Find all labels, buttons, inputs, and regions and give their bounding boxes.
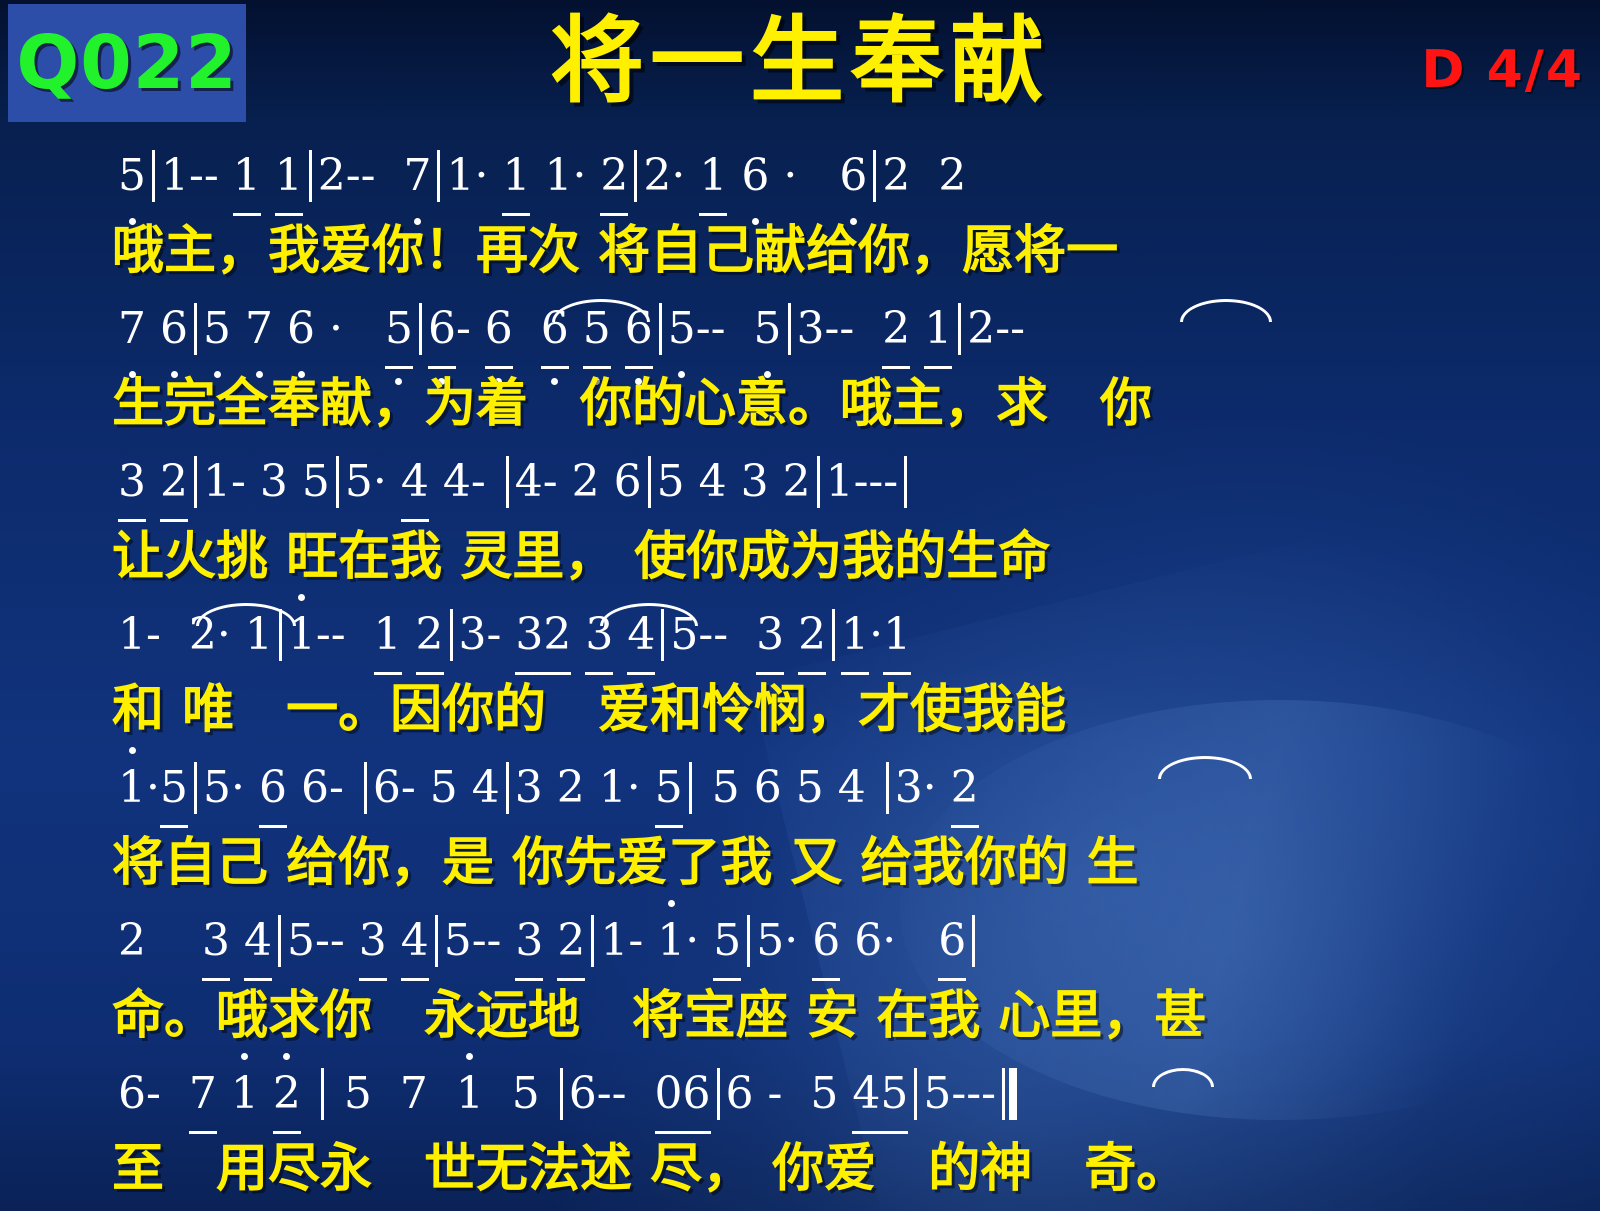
score-system-3: 3 21- 3 55· 4 4- 4- 2 65 4 3 21--- 让火挑 旺… xyxy=(0,446,1600,599)
notation-line-5: 1·55· 6 6- 6- 5 43 2 1· 5 5 6 5 4 3· 2 xyxy=(0,752,1600,824)
song-sheet-slide: Q022 将一生奉献 D 4/4 51-- 1 12-- 71· 1 1· 22… xyxy=(0,0,1600,1211)
notation-line-7: 6- 7 1 2 5 7 1 5 6-- 066 - 5 455--- xyxy=(0,1058,1600,1130)
lyrics-line-4: 和 唯 一。因你的 爱和怜悯，才使我能 xyxy=(0,671,1600,749)
score-system-5: 1·55· 6 6- 6- 5 43 2 1· 5 5 6 5 4 3· 2 将… xyxy=(0,752,1600,905)
notation-line-6: 2 3 45-- 3 45-- 3 21- 1· 55· 6 6· 6 xyxy=(0,905,1600,977)
score-system-6: 2 3 45-- 3 45-- 3 21- 1· 55· 6 6· 6 命。哦求… xyxy=(0,905,1600,1058)
lyrics-line-1: 哦主，我爱你！再次 将自己献给你，愿将一 xyxy=(0,212,1600,290)
score-body: 51-- 1 12-- 71· 1 1· 22· 1 6 · 62 2 哦主，我… xyxy=(0,140,1600,1211)
lyrics-line-5: 将自己 给你，是 你先爱了我 又 给我你的 生 xyxy=(0,824,1600,902)
lyrics-line-7: 至 用尽永 世无法述 尽， 你爱 的神 奇。 xyxy=(0,1130,1600,1208)
notation-line-1: 51-- 1 12-- 71· 1 1· 22· 1 6 · 62 2 xyxy=(0,140,1600,212)
score-system-4: 1- 2· 11-- 1 23- 32 3 45-- 3 21·1 和 唯 一。… xyxy=(0,599,1600,752)
notation-line-3: 3 21- 3 55· 4 4- 4- 2 65 4 3 21--- xyxy=(0,446,1600,518)
notation-line-2: 7 65 7 6 · 56- 6 6 5 65-- 53-- 2 12-- xyxy=(0,293,1600,365)
score-system-2: 7 65 7 6 · 56- 6 6 5 65-- 53-- 2 12-- 生完… xyxy=(0,293,1600,446)
score-system-7: 6- 7 1 2 5 7 1 5 6-- 066 - 5 455--- 至 用尽… xyxy=(0,1058,1600,1211)
key-signature-label: D 4/4 xyxy=(1421,40,1584,100)
score-system-1: 51-- 1 12-- 71· 1 1· 22· 1 6 · 62 2 哦主，我… xyxy=(0,140,1600,293)
notation-line-4: 1- 2· 11-- 1 23- 32 3 45-- 3 21·1 xyxy=(0,599,1600,671)
page-title: 将一生奉献 xyxy=(0,10,1600,113)
lyrics-line-6: 命。哦求你 永远地 将宝座 安 在我 心里，甚 xyxy=(0,977,1600,1055)
lyrics-line-3: 让火挑 旺在我 灵里， 使你成为我的生命 xyxy=(0,518,1600,596)
lyrics-line-2: 生完全奉献，为着 你的心意。哦主，求 你 xyxy=(0,365,1600,443)
